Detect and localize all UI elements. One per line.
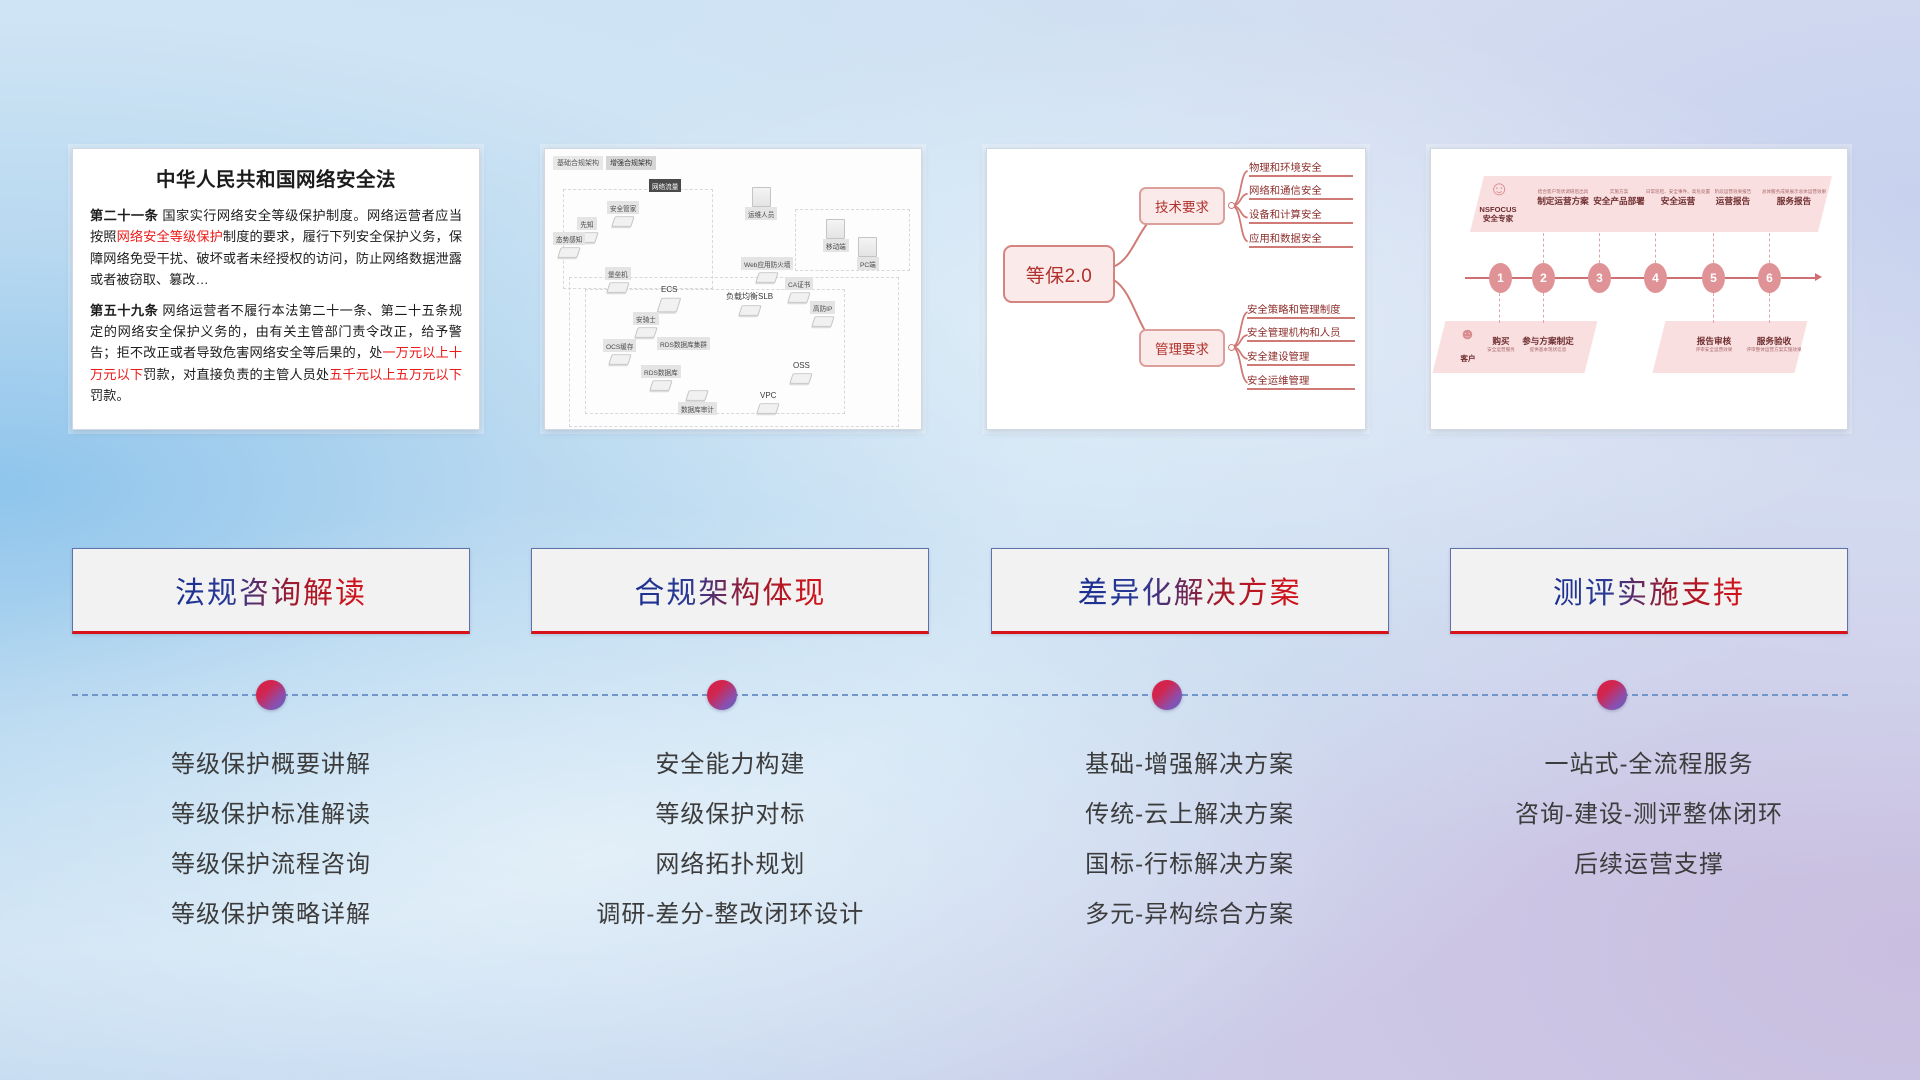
headline-box-differentiated-solution[interactable]: 差异化解决方案 bbox=[991, 548, 1389, 634]
arch-node-ecs: ECS bbox=[658, 283, 680, 314]
list-item: 基础-增强解决方案 bbox=[991, 740, 1389, 790]
headline-label: 测评实施支持 bbox=[1553, 568, 1745, 612]
architecture-diagram: 基础合规架构 增强合规架构 网络流量 安全管家 先知 bbox=[545, 149, 921, 429]
mindmap-leaf: 应用和数据安全 bbox=[1249, 230, 1353, 248]
slide-root: 中华人民共和国网络安全法 第二十一条 国家实行网络安全等级保护制度。网络运营者应… bbox=[0, 0, 1920, 1080]
headline-label: 合规架构体现 bbox=[634, 568, 826, 612]
thumbnail-mindmap-card[interactable]: 等保2.0 技术要求 管理要求 物理和环境安全 网络和通信安全 设备和计算安全 bbox=[986, 148, 1366, 430]
arch-label: 高防IP bbox=[810, 301, 835, 314]
headline-label: 差异化解决方案 bbox=[1078, 568, 1302, 612]
detail-column-differentiated-solution: 基础-增强解决方案 传统-云上解决方案 国标-行标解决方案 多元-异构综合方案 bbox=[991, 740, 1389, 940]
law-run-highlight: 五千元以上五万元以下 bbox=[329, 367, 462, 382]
arch-node-oss: OSS bbox=[790, 359, 813, 385]
mindmap-leaf-underline bbox=[1247, 364, 1355, 366]
timeline-dot-1[interactable] bbox=[256, 680, 286, 710]
arch-node-security-butler: 安全管家 bbox=[607, 201, 639, 228]
arch-node-situational-awareness: 态势感知 bbox=[553, 232, 585, 259]
arch-node-shape bbox=[738, 305, 761, 315]
arch-label: Web应用防火墙 bbox=[741, 257, 793, 270]
detail-list-row: 等级保护概要讲解 等级保护标准解读 等级保护流程咨询 等级保护策略详解 安全能力… bbox=[0, 740, 1920, 940]
list-item: 等级保护概要讲解 bbox=[72, 740, 470, 790]
mindmap-leaf-underline bbox=[1249, 222, 1353, 224]
architecture-tabs: 基础合规架构 增强合规架构 bbox=[553, 156, 656, 170]
mindmap-leaf-underline bbox=[1247, 388, 1355, 390]
mindmap-leaf-underline bbox=[1249, 198, 1353, 200]
arch-label: OSS bbox=[790, 359, 813, 371]
mindmap-leaf: 设备和计算安全 bbox=[1249, 206, 1353, 224]
detail-column-compliance-architecture: 安全能力构建 等级保护对标 网络拓扑规划 调研-差分-整改闭环设计 bbox=[531, 740, 929, 940]
process-step-title: 服务报告 bbox=[1753, 195, 1835, 207]
process-connector bbox=[1655, 233, 1656, 263]
arch-label: 负载均衡SLB bbox=[723, 289, 776, 303]
process-node-2[interactable]: 2 bbox=[1532, 263, 1555, 293]
arch-node-shape bbox=[790, 373, 813, 383]
arch-node-shape bbox=[657, 298, 682, 312]
law-content: 中华人民共和国网络安全法 第二十一条 国家实行网络安全等级保护制度。网络运营者应… bbox=[73, 149, 479, 425]
process-top-step-6: 总体服务成果展示总体运营效果 服务报告 bbox=[1753, 189, 1835, 207]
arch-node-traffic: 网络流量 bbox=[649, 179, 681, 193]
mindmap-leaf-underline bbox=[1247, 340, 1355, 342]
arch-node-vpc: VPC bbox=[757, 389, 779, 415]
law-title: 中华人民共和国网络安全法 bbox=[90, 163, 462, 192]
process-node-4[interactable]: 4 bbox=[1644, 263, 1667, 293]
mindmap-leaf-label: 设备和计算安全 bbox=[1249, 206, 1353, 221]
process-step-title: 参与方案制定 bbox=[1517, 335, 1579, 347]
mindmap-diagram: 等保2.0 技术要求 管理要求 物理和环境安全 网络和通信安全 设备和计算安全 bbox=[987, 149, 1365, 429]
arch-label: PC端 bbox=[857, 257, 879, 270]
law-article-label-59: 第五十九条 bbox=[90, 303, 158, 318]
list-item: 咨询-建设-测评整体闭环 bbox=[1450, 790, 1848, 840]
tab-enhanced-architecture[interactable]: 增强合规架构 bbox=[606, 156, 656, 170]
process-node-5[interactable]: 5 bbox=[1702, 263, 1725, 293]
arch-node-shape bbox=[557, 247, 580, 257]
tab-basic-architecture[interactable]: 基础合规架构 bbox=[553, 156, 603, 170]
arch-node-slb: 负载均衡SLB bbox=[723, 289, 776, 317]
expert-avatar-icon: ☺ bbox=[1489, 179, 1509, 199]
process-bottom-step-6: 服务验收 评审整体运营方案实施效果 bbox=[1743, 335, 1805, 353]
timeline bbox=[72, 694, 1848, 696]
process-node-1[interactable]: 1 bbox=[1489, 263, 1512, 293]
process-connector bbox=[1713, 233, 1714, 263]
list-item: 国标-行标解决方案 bbox=[991, 840, 1389, 890]
mindmap-branch-management: 管理要求 bbox=[1139, 329, 1225, 367]
headline-label: 法规咨询解读 bbox=[175, 568, 367, 612]
arch-node-mobile: 移动端 bbox=[823, 219, 849, 253]
arch-node-shape bbox=[757, 403, 780, 413]
arch-node-shape bbox=[858, 237, 877, 257]
list-item: 安全能力构建 bbox=[531, 740, 929, 790]
process-step-sub: 提供基本现状信息 bbox=[1517, 347, 1579, 353]
mindmap-leaf-label: 安全管理机构和人员 bbox=[1247, 324, 1355, 339]
process-connector bbox=[1543, 233, 1544, 263]
mindmap-branch-technical: 技术要求 bbox=[1139, 187, 1225, 225]
arch-label: 安骑士 bbox=[633, 312, 659, 325]
headline-box-assessment-support[interactable]: 测评实施支持 bbox=[1450, 548, 1848, 634]
arch-label: 移动端 bbox=[823, 239, 849, 252]
list-item: 等级保护对标 bbox=[531, 790, 929, 840]
list-item: 等级保护标准解读 bbox=[72, 790, 470, 840]
thumbnail-process-card[interactable]: ☺ NSFOCUS 安全专家 结合客户现状调研后出具 制定运营方案 实施方案 安… bbox=[1430, 148, 1848, 430]
law-paragraph-21: 第二十一条 国家实行网络安全等级保护制度。网络运营者应当按照网络安全等级保护制度… bbox=[90, 205, 462, 291]
arch-label: ECS bbox=[658, 283, 680, 295]
mindmap-leaf: 物理和环境安全 bbox=[1249, 159, 1353, 177]
arch-label: 数据库审计 bbox=[678, 402, 717, 415]
timeline-dot-4[interactable] bbox=[1597, 680, 1627, 710]
arch-node-shape bbox=[608, 354, 631, 364]
timeline-dot-3[interactable] bbox=[1152, 680, 1182, 710]
thumbnail-architecture-card[interactable]: 基础合规架构 增强合规架构 网络流量 安全管家 先知 bbox=[544, 148, 922, 430]
arch-node-shape bbox=[787, 292, 810, 302]
arch-node-db-audit: 数据库审计 bbox=[678, 389, 717, 416]
arch-node-anqishi: 安骑士 bbox=[633, 312, 659, 339]
customer-avatar-icon: ☻ bbox=[1459, 327, 1476, 343]
list-item: 多元-异构综合方案 bbox=[991, 890, 1389, 940]
mindmap-leaf: 安全运维管理 bbox=[1247, 372, 1355, 390]
arch-node-shape bbox=[634, 327, 657, 337]
process-step-title: 服务验收 bbox=[1743, 335, 1805, 347]
process-connector bbox=[1769, 233, 1770, 263]
timeline-dot-2[interactable] bbox=[707, 680, 737, 710]
law-article-label-21: 第二十一条 bbox=[90, 208, 158, 223]
detail-column-regulation-consulting: 等级保护概要讲解 等级保护标准解读 等级保护流程咨询 等级保护策略详解 bbox=[72, 740, 470, 940]
mindmap-leaf-label: 安全策略和管理制度 bbox=[1247, 301, 1355, 316]
arch-label: 态势感知 bbox=[553, 232, 585, 245]
list-item: 后续运营支撑 bbox=[1450, 840, 1848, 890]
mindmap-leaf-label: 物理和环境安全 bbox=[1249, 159, 1353, 174]
list-item: 传统-云上解决方案 bbox=[991, 790, 1389, 840]
list-item: 一站式-全流程服务 bbox=[1450, 740, 1848, 790]
arch-node-rds-cluster: RDS数据库集群 bbox=[657, 337, 710, 351]
process-step-sub: 评审整体运营方案实施效果 bbox=[1743, 347, 1805, 353]
arch-node-ocs-cache: OCS缓存 bbox=[603, 339, 636, 366]
mindmap-leaf: 网络和通信安全 bbox=[1249, 182, 1353, 200]
arch-node-shape bbox=[826, 219, 845, 239]
detail-column-assessment-support: 一站式-全流程服务 咨询-建设-测评整体闭环 后续运营支撑 bbox=[1450, 740, 1848, 940]
arch-node-rds: RDS数据库 bbox=[641, 365, 681, 392]
mindmap-root-node: 等保2.0 bbox=[1003, 245, 1115, 303]
arch-node-ca-cert: CA证书 bbox=[785, 277, 813, 304]
process-step-title: 报告审核 bbox=[1685, 335, 1743, 347]
arch-label: CA证书 bbox=[785, 277, 813, 290]
arch-node-bastion: 堡垒机 bbox=[605, 267, 631, 294]
process-actor-customer: 客户 bbox=[1449, 353, 1487, 364]
mindmap-leaf: 安全建设管理 bbox=[1247, 348, 1355, 366]
arch-zone-clients bbox=[795, 209, 910, 271]
process-connector bbox=[1599, 233, 1600, 263]
list-item: 等级保护流程咨询 bbox=[72, 840, 470, 890]
arch-node-shape bbox=[756, 272, 779, 282]
mindmap-leaf-label: 应用和数据安全 bbox=[1249, 230, 1353, 245]
headline-row: 法规咨询解读 合规架构体现 差异化解决方案 测评实施支持 bbox=[0, 548, 1920, 634]
arch-label: 安全管家 bbox=[607, 201, 639, 214]
process-arrow-icon bbox=[1815, 273, 1822, 281]
arch-node-ops-staff: 运维人员 bbox=[745, 187, 777, 221]
mindmap-leaf: 安全策略和管理制度 bbox=[1247, 301, 1355, 319]
arch-label: RDS数据库集群 bbox=[657, 337, 710, 350]
thumbnail-row: 中华人民共和国网络安全法 第二十一条 国家实行网络安全等级保护制度。网络运营者应… bbox=[0, 148, 1920, 443]
arch-node-shape bbox=[686, 390, 709, 400]
law-run: 罚款。 bbox=[90, 388, 130, 403]
arch-node-shape bbox=[752, 187, 771, 207]
mindmap-leaf-label: 网络和通信安全 bbox=[1249, 182, 1353, 197]
process-node-6[interactable]: 6 bbox=[1758, 263, 1781, 293]
arch-label: VPC bbox=[757, 389, 779, 401]
process-bottom-step-2: 参与方案制定 提供基本现状信息 bbox=[1517, 335, 1579, 353]
mindmap-leaf: 安全管理机构和人员 bbox=[1247, 324, 1355, 342]
arch-label: 堡垒机 bbox=[605, 267, 631, 280]
process-node-3[interactable]: 3 bbox=[1588, 263, 1611, 293]
timeline-dashed-line bbox=[72, 694, 1848, 696]
process-diagram: ☺ NSFOCUS 安全专家 结合客户现状调研后出具 制定运营方案 实施方案 安… bbox=[1431, 149, 1847, 429]
process-connector bbox=[1769, 293, 1770, 323]
headline-box-compliance-architecture[interactable]: 合规架构体现 bbox=[531, 548, 929, 634]
headline-box-regulation-consulting[interactable]: 法规咨询解读 bbox=[72, 548, 470, 634]
mindmap-collapse-icon-technical[interactable] bbox=[1228, 202, 1235, 209]
arch-label: OCS缓存 bbox=[603, 339, 636, 352]
process-actor-expert: NSFOCUS 安全专家 bbox=[1467, 205, 1529, 224]
process-bottom-step-5: 报告审核 评审安全运营效果 bbox=[1685, 335, 1743, 353]
mindmap-leaf-underline bbox=[1247, 317, 1355, 319]
mindmap-collapse-icon-management[interactable] bbox=[1228, 344, 1235, 351]
arch-node-shape bbox=[811, 316, 834, 326]
arch-node-shape bbox=[611, 216, 634, 226]
process-connector bbox=[1499, 293, 1500, 323]
mindmap-leaf-label: 安全运维管理 bbox=[1247, 372, 1355, 387]
law-run-highlight: 网络安全等级保护 bbox=[117, 229, 223, 244]
thumbnail-law-card[interactable]: 中华人民共和国网络安全法 第二十一条 国家实行网络安全等级保护制度。网络运营者应… bbox=[72, 148, 480, 430]
arch-label: 运维人员 bbox=[745, 207, 777, 220]
arch-node-shape bbox=[649, 380, 672, 390]
mindmap-leaf-underline bbox=[1249, 246, 1353, 248]
mindmap-leaf-underline bbox=[1249, 175, 1353, 177]
list-item: 调研-差分-整改闭环设计 bbox=[531, 890, 929, 940]
arch-label: RDS数据库 bbox=[641, 365, 681, 378]
process-connector bbox=[1713, 293, 1714, 323]
arch-node-anti-ddos-ip: 高防IP bbox=[810, 301, 835, 328]
law-paragraph-59: 第五十九条 网络运营者不履行本法第二十一条、第二十五条规定的网络安全保护义务的，… bbox=[90, 300, 462, 407]
law-run: 罚款，对直接负责的主管人员处 bbox=[143, 367, 329, 382]
mindmap-leaf-label: 安全建设管理 bbox=[1247, 348, 1355, 363]
arch-label: 先知 bbox=[577, 217, 596, 230]
process-step-sub: 评审安全运营效果 bbox=[1685, 347, 1743, 353]
process-connector bbox=[1543, 293, 1544, 323]
arch-node-shape bbox=[606, 282, 629, 292]
list-item: 等级保护策略详解 bbox=[72, 890, 470, 940]
list-item: 网络拓扑规划 bbox=[531, 840, 929, 890]
arch-node-pc: PC端 bbox=[857, 237, 879, 271]
arch-label: 网络流量 bbox=[649, 179, 681, 192]
